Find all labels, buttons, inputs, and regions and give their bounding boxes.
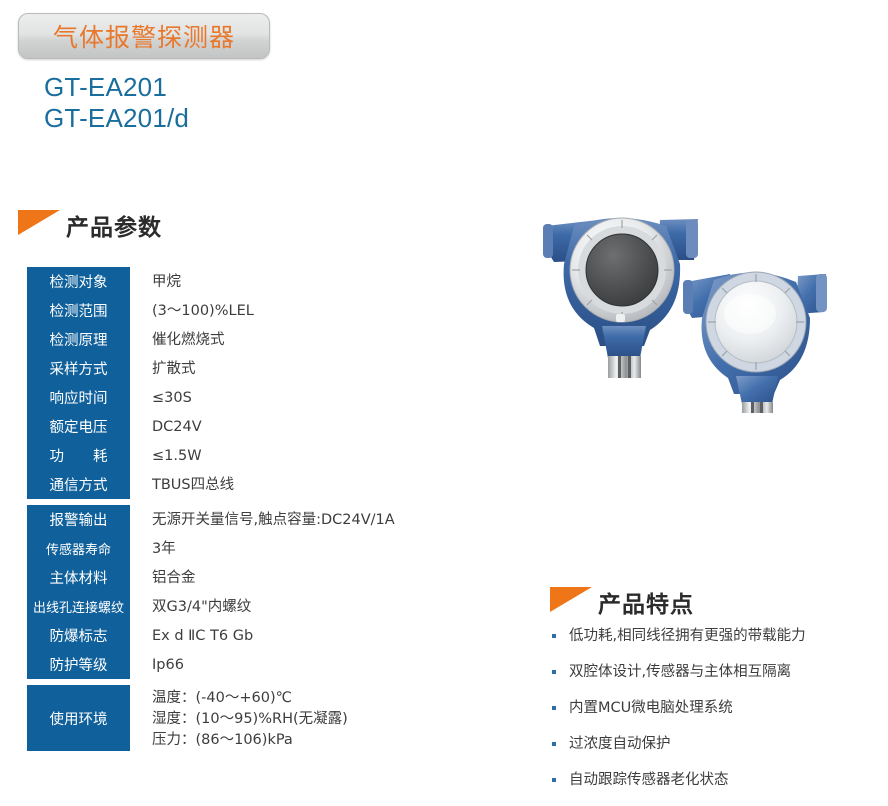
feature-text: 双腔体设计,传感器与主体相互隔离 bbox=[569, 662, 791, 682]
env-pressure: 压力：(86～106)kPa bbox=[152, 730, 293, 751]
spec-value: (3～100)%LEL bbox=[130, 296, 254, 325]
feature-text: 过浓度自动保护 bbox=[569, 734, 671, 754]
bullet-icon bbox=[552, 670, 556, 674]
product-photo bbox=[540, 198, 830, 413]
spec-value: 铝合金 bbox=[130, 563, 196, 592]
feature-list: 低功耗,相同线径拥有更强的带载能力 双腔体设计,传感器与主体相互隔离 内置MCU… bbox=[552, 626, 882, 806]
spec-value: Ip66 bbox=[130, 650, 184, 679]
product-category-label: 气体报警探测器 bbox=[53, 18, 235, 54]
spec-label: 检测原理 bbox=[27, 325, 130, 354]
table-row: 主体材料 铝合金 bbox=[27, 563, 487, 592]
product-category-badge: 气体报警探测器 bbox=[18, 13, 270, 59]
specification-group: 报警输出 无源开关量信号,触点容量:DC24V/1A 传感器寿命 3年 主体材料… bbox=[27, 505, 487, 679]
spec-value: 双G3/4"内螺纹 bbox=[130, 592, 251, 621]
spec-label: 出线孔连接螺纹 bbox=[27, 592, 130, 621]
spec-value: 3年 bbox=[130, 534, 176, 563]
table-row: 通信方式 TBUS四总线 bbox=[27, 470, 487, 499]
section-heading-features: 产品特点 bbox=[550, 582, 694, 616]
table-row: 防爆标志 Ex d ⅡC T6 Gb bbox=[27, 621, 487, 650]
detector-unit-left bbox=[543, 218, 698, 378]
spec-label: 防护等级 bbox=[27, 650, 130, 679]
model-number-block: GT-EA201 GT-EA201/d bbox=[44, 72, 189, 134]
spec-label: 功 耗 bbox=[27, 441, 130, 470]
spec-label: 传感器寿命 bbox=[27, 534, 130, 563]
spec-value: ≤1.5W bbox=[130, 441, 202, 470]
feature-text: 低功耗,相同线径拥有更强的带载能力 bbox=[569, 626, 806, 646]
spec-label: 采样方式 bbox=[27, 354, 130, 383]
spec-label: 主体材料 bbox=[27, 563, 130, 592]
table-row: 采样方式 扩散式 bbox=[27, 354, 487, 383]
spec-value: DC24V bbox=[130, 412, 202, 441]
spec-value: 温度：(-40～+60)℃ 湿度：(10～95)%RH(无凝露) 压力：(86～… bbox=[130, 685, 348, 751]
bullet-icon bbox=[552, 634, 556, 638]
spec-label: 通信方式 bbox=[27, 470, 130, 499]
section-heading-parameters: 产品参数 bbox=[18, 205, 162, 239]
bullet-icon bbox=[552, 742, 556, 746]
spec-value: TBUS四总线 bbox=[130, 470, 234, 499]
orange-flag-icon bbox=[550, 586, 592, 612]
spec-value: 甲烷 bbox=[130, 267, 181, 296]
section-heading-parameters-label: 产品参数 bbox=[66, 208, 162, 242]
model-number-primary: GT-EA201 bbox=[44, 72, 189, 103]
specification-group: 使用环境 温度：(-40～+60)℃ 湿度：(10～95)%RH(无凝露) 压力… bbox=[27, 685, 487, 751]
spec-value: Ex d ⅡC T6 Gb bbox=[130, 621, 253, 650]
table-row: 防护等级 Ip66 bbox=[27, 650, 487, 679]
list-item: 过浓度自动保护 bbox=[552, 734, 882, 770]
list-item: 低功耗,相同线径拥有更强的带载能力 bbox=[552, 626, 882, 662]
spec-label: 检测范围 bbox=[27, 296, 130, 325]
bullet-icon bbox=[552, 778, 556, 782]
bullet-icon bbox=[552, 706, 556, 710]
specification-group: 检测对象 甲烷 检测范围 (3～100)%LEL 检测原理 催化燃烧式 采样方式… bbox=[27, 267, 487, 499]
spec-value: 催化燃烧式 bbox=[130, 325, 225, 354]
table-row: 响应时间 ≤30S bbox=[27, 383, 487, 412]
spec-value: 无源开关量信号,触点容量:DC24V/1A bbox=[130, 505, 395, 534]
env-temperature: 温度：(-40～+60)℃ bbox=[152, 688, 292, 709]
feature-text: 内置MCU微电脑处理系统 bbox=[569, 698, 733, 718]
table-row: 出线孔连接螺纹 双G3/4"内螺纹 bbox=[27, 592, 487, 621]
table-row: 使用环境 温度：(-40～+60)℃ 湿度：(10～95)%RH(无凝露) 压力… bbox=[27, 685, 487, 751]
spec-label: 检测对象 bbox=[27, 267, 130, 296]
spec-label: 响应时间 bbox=[27, 383, 130, 412]
table-row: 额定电压 DC24V bbox=[27, 412, 487, 441]
spec-label: 使用环境 bbox=[27, 685, 130, 751]
env-humidity: 湿度：(10～95)%RH(无凝露) bbox=[152, 709, 348, 730]
spec-label: 防爆标志 bbox=[27, 621, 130, 650]
spec-value: 扩散式 bbox=[130, 354, 196, 383]
table-row: 检测原理 催化燃烧式 bbox=[27, 325, 487, 354]
section-heading-features-label: 产品特点 bbox=[598, 585, 694, 619]
specification-table: 检测对象 甲烷 检测范围 (3～100)%LEL 检测原理 催化燃烧式 采样方式… bbox=[27, 267, 487, 751]
spec-value: ≤30S bbox=[130, 383, 192, 412]
model-number-secondary: GT-EA201/d bbox=[44, 103, 189, 134]
table-row: 检测对象 甲烷 bbox=[27, 267, 487, 296]
table-row: 功 耗 ≤1.5W bbox=[27, 441, 487, 470]
spec-label: 额定电压 bbox=[27, 412, 130, 441]
feature-text: 自动跟踪传感器老化状态 bbox=[569, 770, 729, 790]
orange-flag-icon bbox=[18, 209, 60, 235]
list-item: 自动跟踪传感器老化状态 bbox=[552, 770, 882, 806]
table-row: 报警输出 无源开关量信号,触点容量:DC24V/1A bbox=[27, 505, 487, 534]
table-row: 传感器寿命 3年 bbox=[27, 534, 487, 563]
detector-unit-right bbox=[683, 272, 827, 413]
list-item: 内置MCU微电脑处理系统 bbox=[552, 698, 882, 734]
list-item: 双腔体设计,传感器与主体相互隔离 bbox=[552, 662, 882, 698]
table-row: 检测范围 (3～100)%LEL bbox=[27, 296, 487, 325]
spec-label: 报警输出 bbox=[27, 505, 130, 534]
